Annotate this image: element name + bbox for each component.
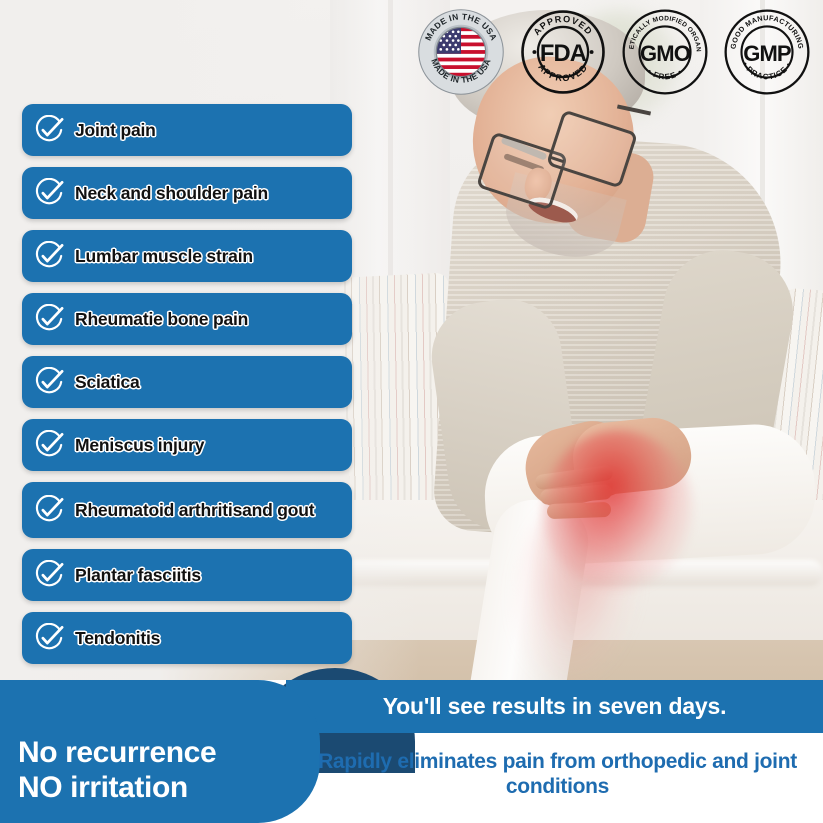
badge-gmo-bottom-arc: • FREE • (646, 67, 685, 82)
claim-line-1: No recurrence (18, 735, 318, 770)
check-circle-icon (34, 241, 64, 271)
condition-label: Sciatica (75, 373, 140, 391)
check-circle-icon (34, 367, 64, 397)
condition-pill[interactable]: Neck and shoulder pain (22, 167, 352, 219)
advertisement-banner: MADE IN THE USA MADE IN THE USA FDA (0, 0, 823, 823)
bottom-headline: You'll see results in seven days. (286, 680, 823, 733)
condition-label: Plantar fasciitis (75, 566, 201, 584)
bottom-subtext: Rapidly eliminates pain from orthopedic … (300, 735, 815, 815)
condition-pill[interactable]: Rheumatoid arthritisand gout (22, 482, 352, 538)
condition-pill[interactable]: Joint pain (22, 104, 352, 156)
condition-label: Rheumatoid arthritisand gout (75, 501, 314, 519)
check-circle-icon (34, 623, 64, 653)
knee-pain-glow (543, 430, 693, 590)
badge-gmp-center: GMP (743, 41, 791, 66)
condition-pill[interactable]: Lumbar muscle strain (22, 230, 352, 282)
check-circle-icon (34, 495, 64, 525)
badge-fda-center: FDA (540, 40, 587, 67)
badge-gmp-practice: GMP GOOD MANUFACTURING • PRACTICE • (723, 8, 811, 96)
check-circle-icon (34, 304, 64, 334)
condition-label: Lumbar muscle strain (75, 247, 253, 265)
bottom-banner: No recurrence NO irritation You'll see r… (0, 680, 823, 823)
condition-pill[interactable]: Plantar fasciitis (22, 549, 352, 601)
condition-label: Neck and shoulder pain (75, 184, 268, 202)
badge-gmo-free: GMO GENETICALLY MODIFIED ORGANISM • FREE… (621, 8, 709, 96)
condition-label: Meniscus injury (75, 436, 204, 454)
claim-line-2: NO irritation (18, 770, 318, 805)
badge-gmo-center: GMO (640, 41, 691, 66)
condition-label: Tendonitis (75, 629, 160, 647)
condition-label: Joint pain (75, 121, 156, 139)
condition-pill[interactable]: Rheumatie bone pain (22, 293, 352, 345)
condition-label: Rheumatie bone pain (75, 310, 248, 328)
badge-made-in-usa: MADE IN THE USA MADE IN THE USA (417, 8, 505, 96)
certification-badges: MADE IN THE USA MADE IN THE USA FDA (417, 8, 811, 96)
check-circle-icon (34, 178, 64, 208)
condition-list: Joint pain Neck and shoulder pain Lumbar… (22, 104, 352, 675)
check-circle-icon (34, 560, 64, 590)
check-circle-icon (34, 430, 64, 460)
bottom-left-claim: No recurrence NO irritation (18, 735, 318, 805)
check-circle-icon (34, 115, 64, 145)
svg-text:• FREE •: • FREE • (646, 67, 685, 82)
condition-pill[interactable]: Tendonitis (22, 612, 352, 664)
condition-pill[interactable]: Meniscus injury (22, 419, 352, 471)
man-in-pain (395, 0, 823, 700)
badge-fda-approved: FDA APPROVED APPROVED (519, 8, 607, 96)
condition-pill[interactable]: Sciatica (22, 356, 352, 408)
